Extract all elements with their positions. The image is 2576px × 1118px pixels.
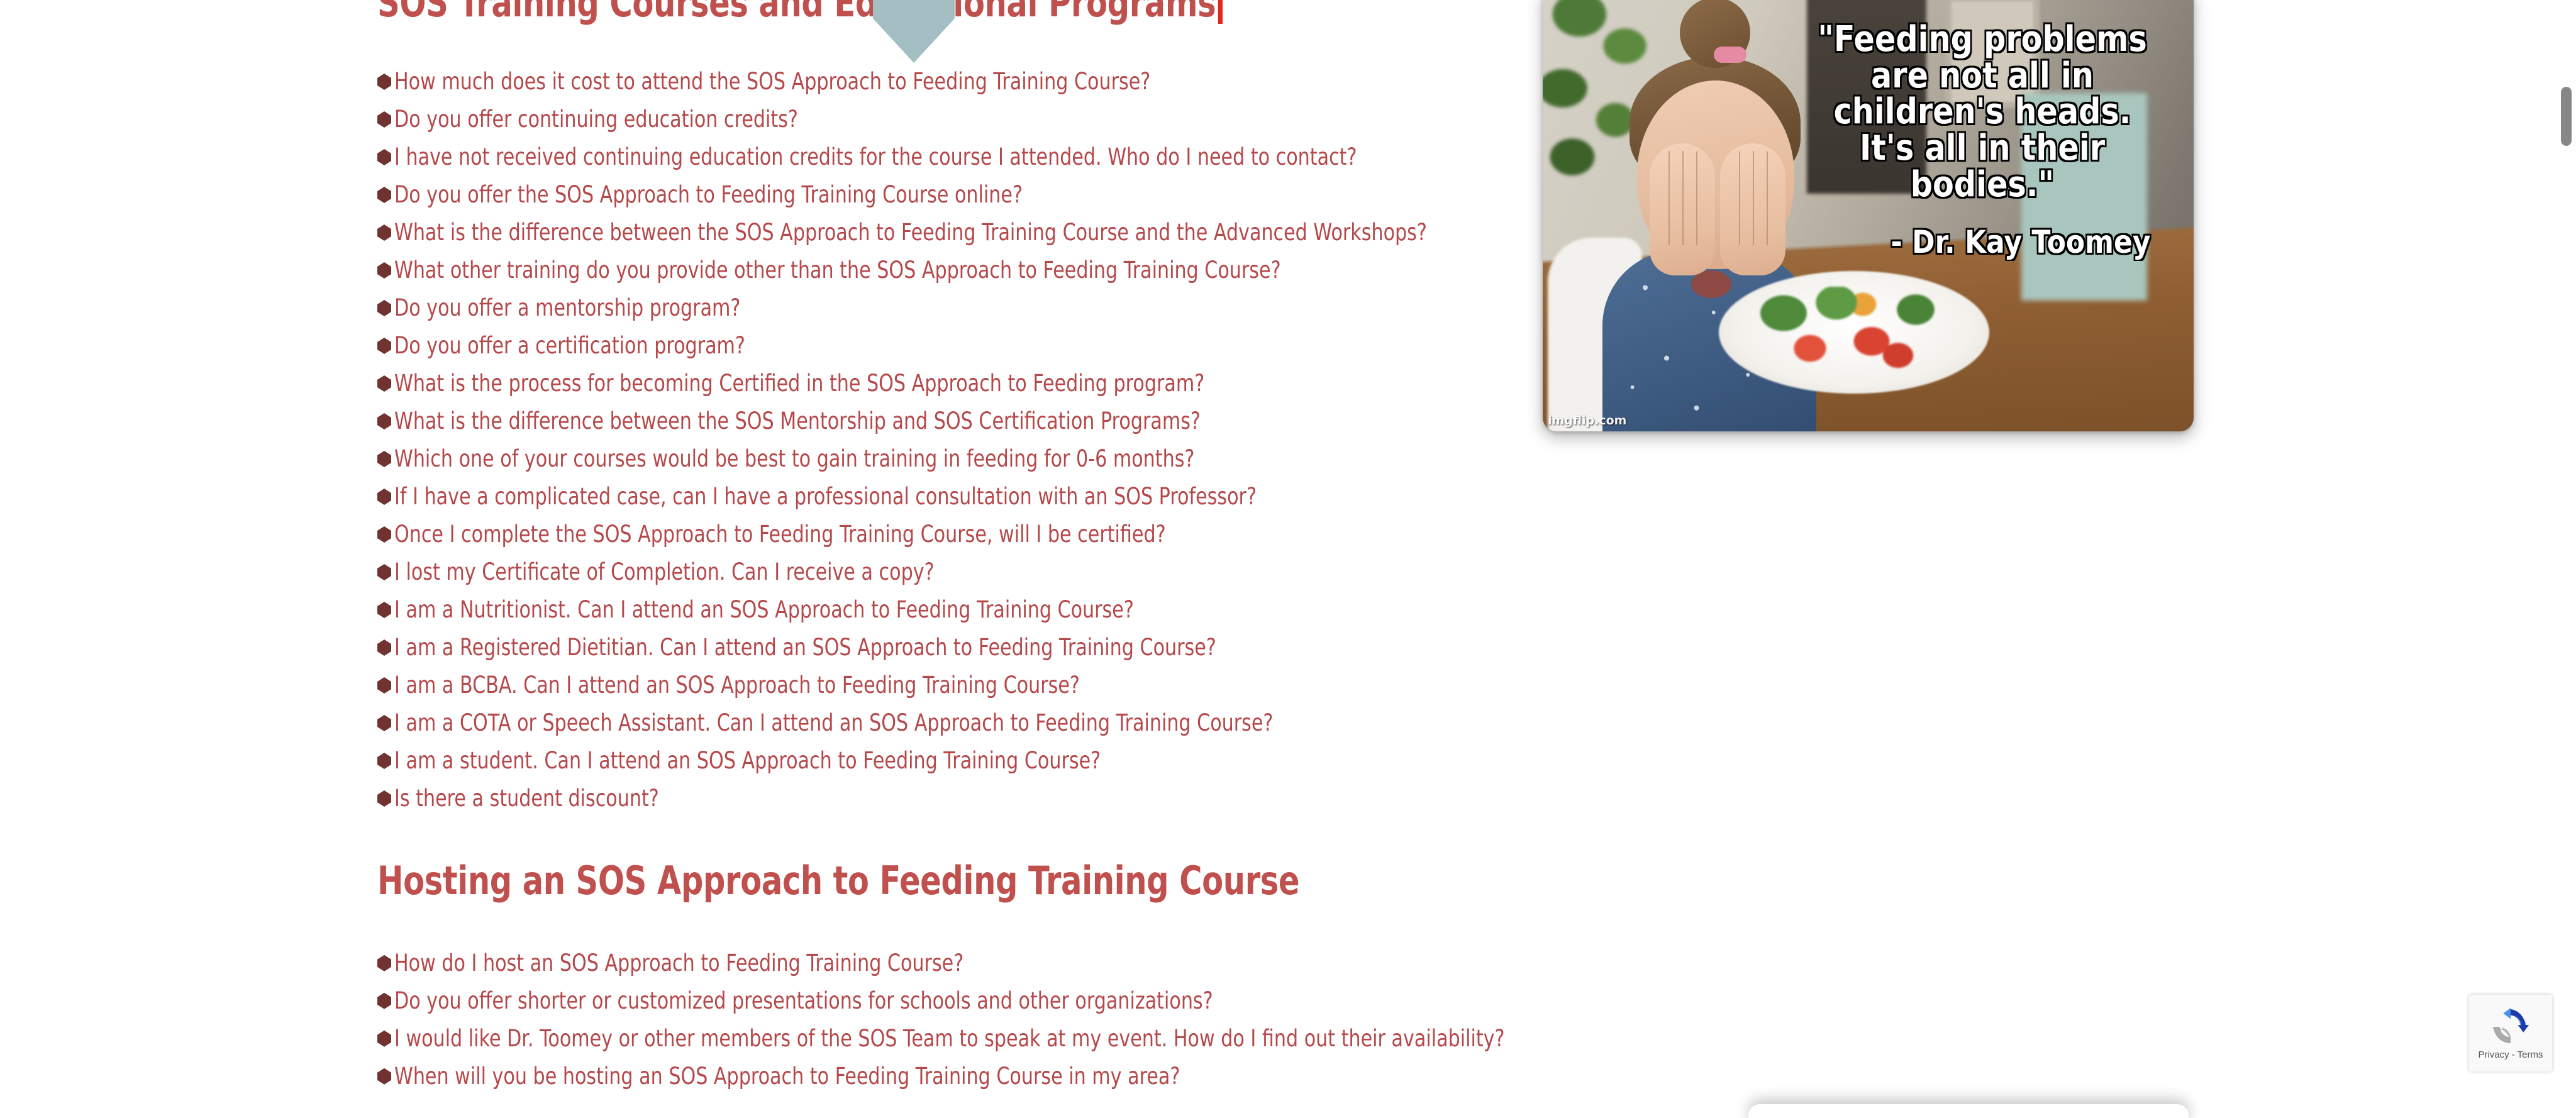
faq-link[interactable]: I would like Dr. Toomey or other members…: [394, 1020, 1505, 1058]
hexagon-bullet-icon: [377, 338, 391, 354]
section-heading-training-courses: SOS Training Courses and Educational Pro…: [377, 0, 1283, 24]
hexagon-bullet-icon: [377, 639, 391, 656]
text-caret: [1218, 0, 1222, 24]
finger-lines: [1656, 151, 1709, 245]
quote-line-1: "Feeding problems: [1811, 21, 2154, 58]
faq-link[interactable]: I have not received continuing education…: [394, 138, 1357, 176]
quote-line-4: It's all in their bodies.": [1811, 130, 2154, 202]
hexagon-bullet-icon: [377, 489, 391, 505]
list-item[interactable]: I have not received continuing education…: [377, 138, 1509, 176]
section-heading-text: Hosting an SOS Approach to Feeding Train…: [377, 858, 1299, 904]
recaptcha-links[interactable]: Privacy - Terms: [2478, 1049, 2543, 1060]
faq-link[interactable]: If I have a complicated case, can I have…: [394, 478, 1257, 516]
list-item[interactable]: What is the difference between the SOS A…: [377, 214, 1509, 252]
faq-link[interactable]: I am a Nutritionist. Can I attend an SOS…: [394, 591, 1134, 629]
recaptcha-badge[interactable]: Privacy - Terms: [2469, 995, 2552, 1071]
list-item[interactable]: How do I host an SOS Approach to Feeding…: [377, 944, 1509, 982]
faq-link[interactable]: When will you be hosting an SOS Approach…: [394, 1058, 1180, 1095]
faq-page: SOS Training Courses and Educational Pro…: [0, 0, 2576, 1118]
hexagon-bullet-icon: [377, 413, 391, 429]
faq-link[interactable]: Once I complete the SOS Approach to Feed…: [394, 516, 1166, 553]
quote-line-2: are not all in: [1811, 58, 2154, 94]
list-item[interactable]: If I have a complicated case, can I have…: [377, 478, 1509, 516]
section-heading-hosting: Hosting an SOS Approach to Feeding Train…: [377, 860, 1283, 902]
faq-link[interactable]: I am a Registered Dietitian. Can I atten…: [394, 629, 1216, 667]
faq-link[interactable]: Do you offer a certification program?: [394, 327, 745, 365]
list-item[interactable]: Do you offer continuing education credit…: [377, 101, 1509, 138]
faq-link[interactable]: What other training do you provide other…: [394, 252, 1281, 289]
hexagon-bullet-icon: [377, 602, 391, 618]
list-item[interactable]: Once I complete the SOS Approach to Feed…: [377, 516, 1509, 553]
hexagon-bullet-icon: [377, 564, 391, 580]
vertical-scrollbar-track[interactable]: [2556, 0, 2576, 1118]
hexagon-bullet-icon: [377, 262, 391, 279]
hexagon-bullet-icon: [377, 149, 391, 165]
hexagon-bullet-icon: [377, 300, 391, 316]
quote-text-block: "Feeding problems are not all in childre…: [1787, 21, 2177, 260]
hexagon-bullet-icon: [377, 753, 391, 769]
faq-link[interactable]: What is the difference between the SOS A…: [394, 214, 1427, 252]
next-card-peek: [1748, 1104, 2189, 1118]
faq-content-column: SOS Training Courses and Educational Pro…: [377, 0, 1509, 1095]
vertical-scrollbar-thumb[interactable]: [2561, 87, 2572, 146]
quote-image-card[interactable]: "Feeding problems are not all in childre…: [1543, 0, 2194, 431]
hexagon-bullet-icon: [377, 1068, 391, 1085]
hexagon-bullet-icon: [377, 526, 391, 543]
image-watermark: imgflip.com: [1548, 414, 1626, 428]
list-item[interactable]: Do you offer a mentorship program?: [377, 289, 1509, 327]
list-item[interactable]: I am a student. Can I attend an SOS Appr…: [377, 742, 1509, 780]
hexagon-bullet-icon: [377, 224, 391, 241]
faq-link[interactable]: How much does it cost to attend the SOS …: [394, 63, 1150, 101]
faq-link[interactable]: I am a COTA or Speech Assistant. Can I a…: [394, 704, 1273, 742]
faq-link[interactable]: What is the process for becoming Certifi…: [394, 365, 1204, 402]
finger-lines: [1726, 151, 1779, 245]
list-item[interactable]: Do you offer shorter or customized prese…: [377, 982, 1509, 1020]
hexagon-bullet-icon: [377, 111, 391, 128]
faq-link[interactable]: I am a BCBA. Can I attend an SOS Approac…: [394, 667, 1080, 704]
hexagon-bullet-icon: [377, 993, 391, 1009]
list-item[interactable]: I am a BCBA. Can I attend an SOS Approac…: [377, 667, 1509, 704]
faq-link[interactable]: Do you offer a mentorship program?: [394, 289, 740, 327]
list-item[interactable]: Is there a student discount?: [377, 780, 1509, 817]
child-right-hand: [1720, 143, 1785, 275]
faq-link[interactable]: Do you offer continuing education credit…: [394, 101, 798, 138]
faq-list-hosting: How do I host an SOS Approach to Feeding…: [377, 944, 1509, 1095]
list-item[interactable]: I lost my Certificate of Completion. Can…: [377, 553, 1509, 591]
list-item[interactable]: I am a Nutritionist. Can I attend an SOS…: [377, 591, 1509, 629]
faq-link[interactable]: What is the difference between the SOS M…: [394, 402, 1201, 440]
faq-link[interactable]: Do you offer shorter or customized prese…: [394, 982, 1213, 1020]
list-item[interactable]: Do you offer the SOS Approach to Feeding…: [377, 176, 1509, 214]
list-item[interactable]: What other training do you provide other…: [377, 252, 1509, 289]
hexagon-bullet-icon: [377, 451, 391, 467]
section-heading-text: SOS Training Courses and Educational Pro…: [377, 0, 1216, 26]
hexagon-bullet-icon: [377, 677, 391, 694]
quote-attribution: - Dr. Kay Toomey: [1811, 224, 2154, 260]
vegetables-on-plate: [1744, 287, 1964, 375]
list-item[interactable]: What is the difference between the SOS M…: [377, 402, 1509, 440]
faq-link[interactable]: I lost my Certificate of Completion. Can…: [394, 553, 935, 591]
hexagon-bullet-icon: [377, 74, 391, 90]
list-item[interactable]: When will you be hosting an SOS Approach…: [377, 1058, 1509, 1095]
quote-line-3: children's heads.: [1811, 94, 2154, 130]
faq-list-training-courses: How much does it cost to attend the SOS …: [377, 63, 1509, 817]
list-item[interactable]: Which one of your courses would be best …: [377, 440, 1509, 478]
hexagon-bullet-icon: [377, 375, 391, 392]
list-item[interactable]: I am a Registered Dietitian. Can I atten…: [377, 629, 1509, 667]
list-item[interactable]: What is the process for becoming Certifi…: [377, 365, 1509, 402]
list-item[interactable]: I am a COTA or Speech Assistant. Can I a…: [377, 704, 1509, 742]
list-item[interactable]: How much does it cost to attend the SOS …: [377, 63, 1509, 101]
child-mouth: [1691, 270, 1731, 298]
faq-link[interactable]: Do you offer the SOS Approach to Feeding…: [394, 176, 1023, 214]
hexagon-bullet-icon: [377, 790, 391, 807]
recaptcha-logo-icon: [2491, 1007, 2530, 1046]
hexagon-bullet-icon: [377, 955, 391, 971]
list-item[interactable]: I would like Dr. Toomey or other members…: [377, 1020, 1509, 1058]
hexagon-bullet-icon: [377, 187, 391, 203]
faq-link[interactable]: Which one of your courses would be best …: [394, 440, 1194, 478]
hexagon-bullet-icon: [377, 715, 391, 731]
faq-link[interactable]: Is there a student discount?: [394, 780, 659, 817]
child-hair-tie: [1714, 47, 1746, 63]
child-left-hand: [1650, 143, 1715, 275]
faq-link[interactable]: How do I host an SOS Approach to Feeding…: [394, 944, 963, 982]
list-item[interactable]: Do you offer a certification program?: [377, 327, 1509, 365]
faq-link[interactable]: I am a student. Can I attend an SOS Appr…: [394, 742, 1101, 780]
hexagon-bullet-icon: [377, 1031, 391, 1047]
